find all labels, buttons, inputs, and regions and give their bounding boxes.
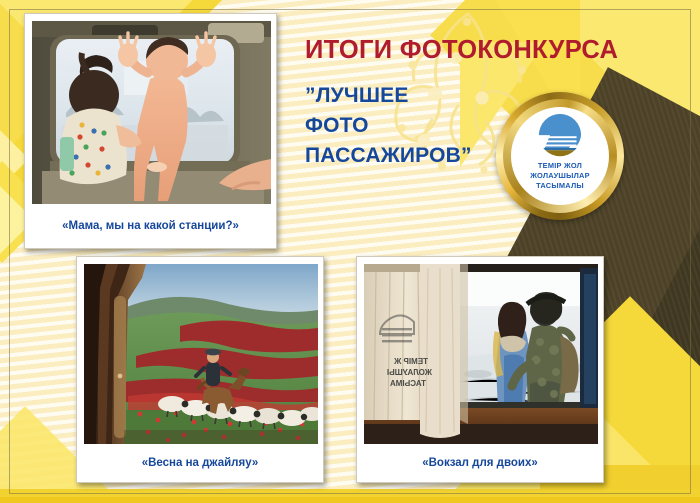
photo-contest-poster: ИТОГИ ФОТОКОНКУРСА ”ЛУЧШЕЕ ФОТО ПАССАЖИР… [0, 0, 700, 503]
photo-poppy-field-shepherd [84, 264, 318, 444]
company-logo: ТЕМІР ЖОЛ ЖОЛАУШЫЛАР ТАСЫМАЛЫ [496, 92, 624, 220]
svg-text:ТЕМІР Ж: ТЕМІР Ж [393, 357, 428, 366]
logo-face: ТЕМІР ЖОЛ ЖОЛАУШЫЛАР ТАСЫМАЛЫ [511, 107, 609, 205]
logo-text: ТЕМІР ЖОЛ ЖОЛАУШЫЛАР ТАСЫМАЛЫ [530, 161, 590, 190]
logo-text-line-1: ТЕМІР ЖОЛ [530, 161, 590, 171]
photo-card[interactable]: «Мама, мы на какой станции?» [24, 13, 277, 249]
railway-wave-emblem-icon [532, 113, 588, 159]
logo-text-line-2: ЖОЛАУШЫЛАР [530, 171, 590, 181]
page-title: ИТОГИ ФОТОКОНКУРСА [305, 36, 635, 64]
photo-caption: «Мама, мы на какой станции?» [32, 204, 269, 250]
photo-caption: «Вокзал для двоих» [364, 444, 596, 484]
svg-text:ТАСЫМА: ТАСЫМА [390, 379, 426, 388]
photo-caption: «Весна на джайляу» [84, 444, 316, 484]
logo-text-line-3: ТАСЫМАЛЫ [530, 181, 590, 191]
svg-text:ЖОЛАУШЫ: ЖОЛАУШЫ [387, 368, 433, 377]
photo-couple-farewell-platform: ТЕМІР Ж ЖОЛАУШЫ ТАСЫМА [364, 264, 598, 444]
decor-bottom-strip-2 [0, 497, 700, 503]
photo-card[interactable]: «Весна на джайляу» [76, 256, 324, 483]
photo-children-at-train-window [32, 21, 271, 204]
photo-card[interactable]: ТЕМІР Ж ЖОЛАУШЫ ТАСЫМА «Вокзал для двоих… [356, 256, 604, 483]
